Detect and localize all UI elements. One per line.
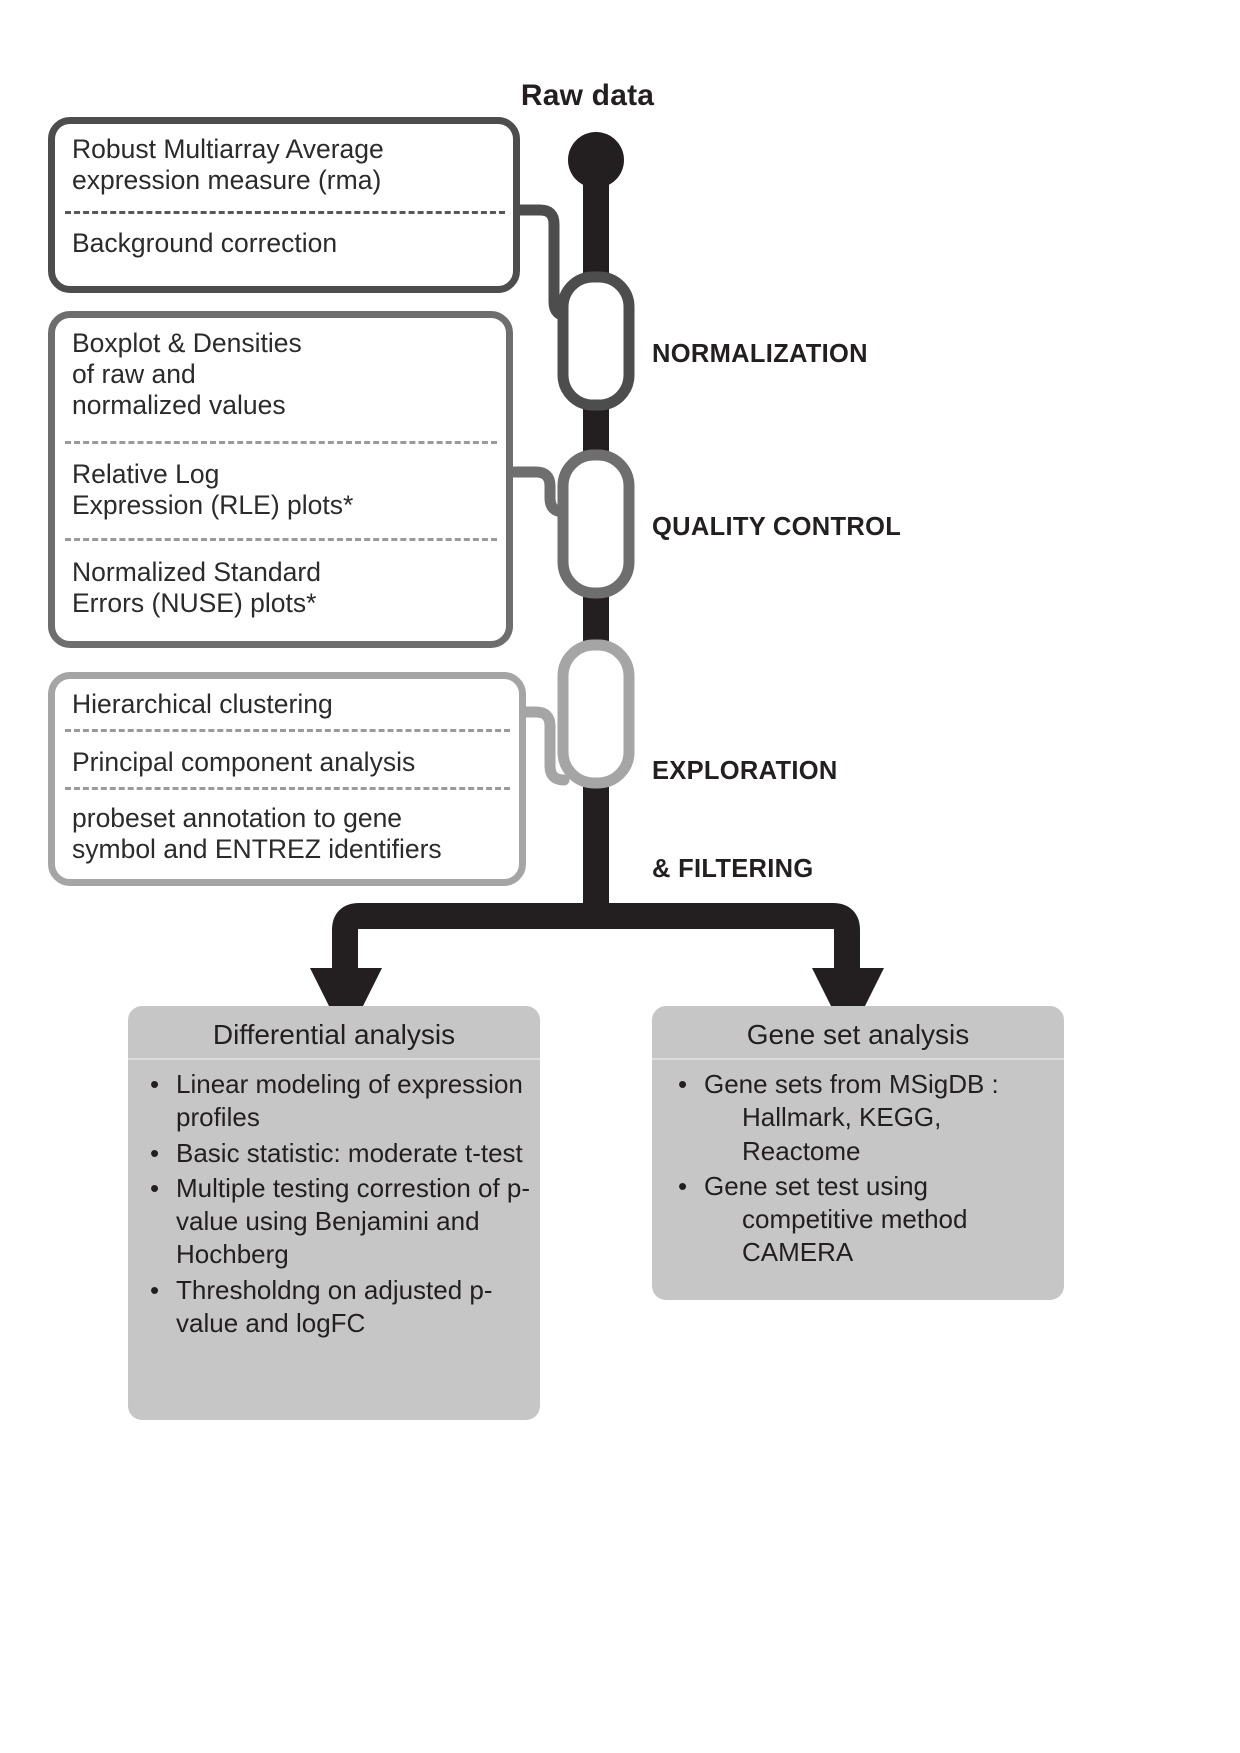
- panel-divider: [128, 1058, 540, 1060]
- stage-label-line-1: EXPLORATION: [652, 755, 838, 788]
- card-separator: [65, 538, 497, 541]
- list-item-text: Gene sets from MSigDB :: [704, 1069, 999, 1099]
- list-item-text-cont: CAMERA: [704, 1236, 1058, 1269]
- bullet-icon: •: [678, 1068, 687, 1101]
- list-item-text: Linear modeling of expression profiles: [176, 1069, 523, 1132]
- list-item-text: Gene set test using: [704, 1171, 928, 1201]
- differential-analysis-list: • Linear modeling of expression profiles…: [150, 1068, 532, 1342]
- stage-card-exploration-filtering: Hierarchical clustering Principal compon…: [48, 672, 526, 886]
- gene-set-analysis-list: • Gene sets from MSigDB : Hallmark, KEGG…: [678, 1068, 1058, 1272]
- raw-data-label: Raw data: [0, 78, 1175, 113]
- stage-item-pca: Principal component analysis: [72, 747, 415, 778]
- stage-label-exploration-filtering: EXPLORATION & FILTERING: [652, 690, 838, 951]
- stage-item-probeset-annotation: probeset annotation to gene symbol and E…: [72, 803, 442, 865]
- spine-main: [568, 132, 624, 900]
- connector-quality-control: [510, 472, 564, 512]
- card-separator: [65, 211, 505, 214]
- list-item: • Gene sets from MSigDB : Hallmark, KEGG…: [678, 1068, 1058, 1168]
- bullet-icon: •: [150, 1068, 159, 1101]
- list-item-text-cont: Hallmark, KEGG,: [704, 1101, 1058, 1134]
- list-item-text: Thresholdng on adjusted p-value and logF…: [176, 1275, 493, 1338]
- raw-data-node: [568, 132, 624, 188]
- card-separator: [65, 787, 510, 790]
- stage-capsule-normalization: [563, 277, 629, 405]
- stage-item-background-correction: Background correction: [72, 228, 337, 259]
- list-item-text-cont: Reactome: [704, 1135, 1058, 1168]
- stage-item-nuse-plots: Normalized Standard Errors (NUSE) plots*: [72, 557, 321, 619]
- outcome-panel-differential-analysis: Differential analysis • Linear modeling …: [128, 1006, 540, 1420]
- list-item-text-cont: competitive method: [704, 1203, 1058, 1236]
- connector-normalization: [516, 210, 568, 316]
- panel-divider: [652, 1058, 1064, 1060]
- stage-label-line-2: & FILTERING: [652, 853, 838, 886]
- stage-item-boxplot-densities: Boxplot & Densities of raw and normalize…: [72, 328, 302, 421]
- bullet-icon: •: [150, 1172, 159, 1205]
- bullet-icon: •: [678, 1170, 687, 1203]
- workflow-diagram: Raw data Robust Multiarray Average expre…: [0, 0, 1240, 1753]
- list-item: • Multiple testing correstion of p-value…: [150, 1172, 532, 1272]
- card-separator: [65, 441, 497, 444]
- panel-title-gene-set-analysis: Gene set analysis: [652, 1019, 1064, 1051]
- stage-item-rma: Robust Multiarray Average expression mea…: [72, 134, 384, 196]
- stage-item-hierarchical-clustering: Hierarchical clustering: [72, 689, 333, 720]
- stage-capsule-quality-control: [563, 455, 629, 593]
- list-item: • Basic statistic: moderate t-test: [150, 1137, 532, 1170]
- stage-card-quality-control: Boxplot & Densities of raw and normalize…: [48, 311, 513, 648]
- panel-title-differential-analysis: Differential analysis: [128, 1019, 540, 1051]
- stage-item-rle-plots: Relative Log Expression (RLE) plots*: [72, 459, 353, 521]
- bullet-icon: •: [150, 1137, 159, 1170]
- bullet-icon: •: [150, 1274, 159, 1307]
- stage-label-quality-control: QUALITY CONTROL: [652, 511, 901, 544]
- list-item: • Gene set test using competitive method…: [678, 1170, 1058, 1270]
- connector-exploration: [523, 712, 564, 780]
- stage-card-normalization: Robust Multiarray Average expression mea…: [48, 117, 520, 293]
- list-item: • Linear modeling of expression profiles: [150, 1068, 532, 1135]
- stage-capsule-exploration: [563, 645, 629, 783]
- card-separator: [65, 729, 510, 732]
- list-item-text: Basic statistic: moderate t-test: [176, 1138, 523, 1168]
- stage-label-normalization: NORMALIZATION: [652, 338, 868, 371]
- list-item-text: Multiple testing correstion of p-value u…: [176, 1173, 530, 1270]
- outcome-panel-gene-set-analysis: Gene set analysis • Gene sets from MSigD…: [652, 1006, 1064, 1300]
- list-item: • Thresholdng on adjusted p-value and lo…: [150, 1274, 532, 1341]
